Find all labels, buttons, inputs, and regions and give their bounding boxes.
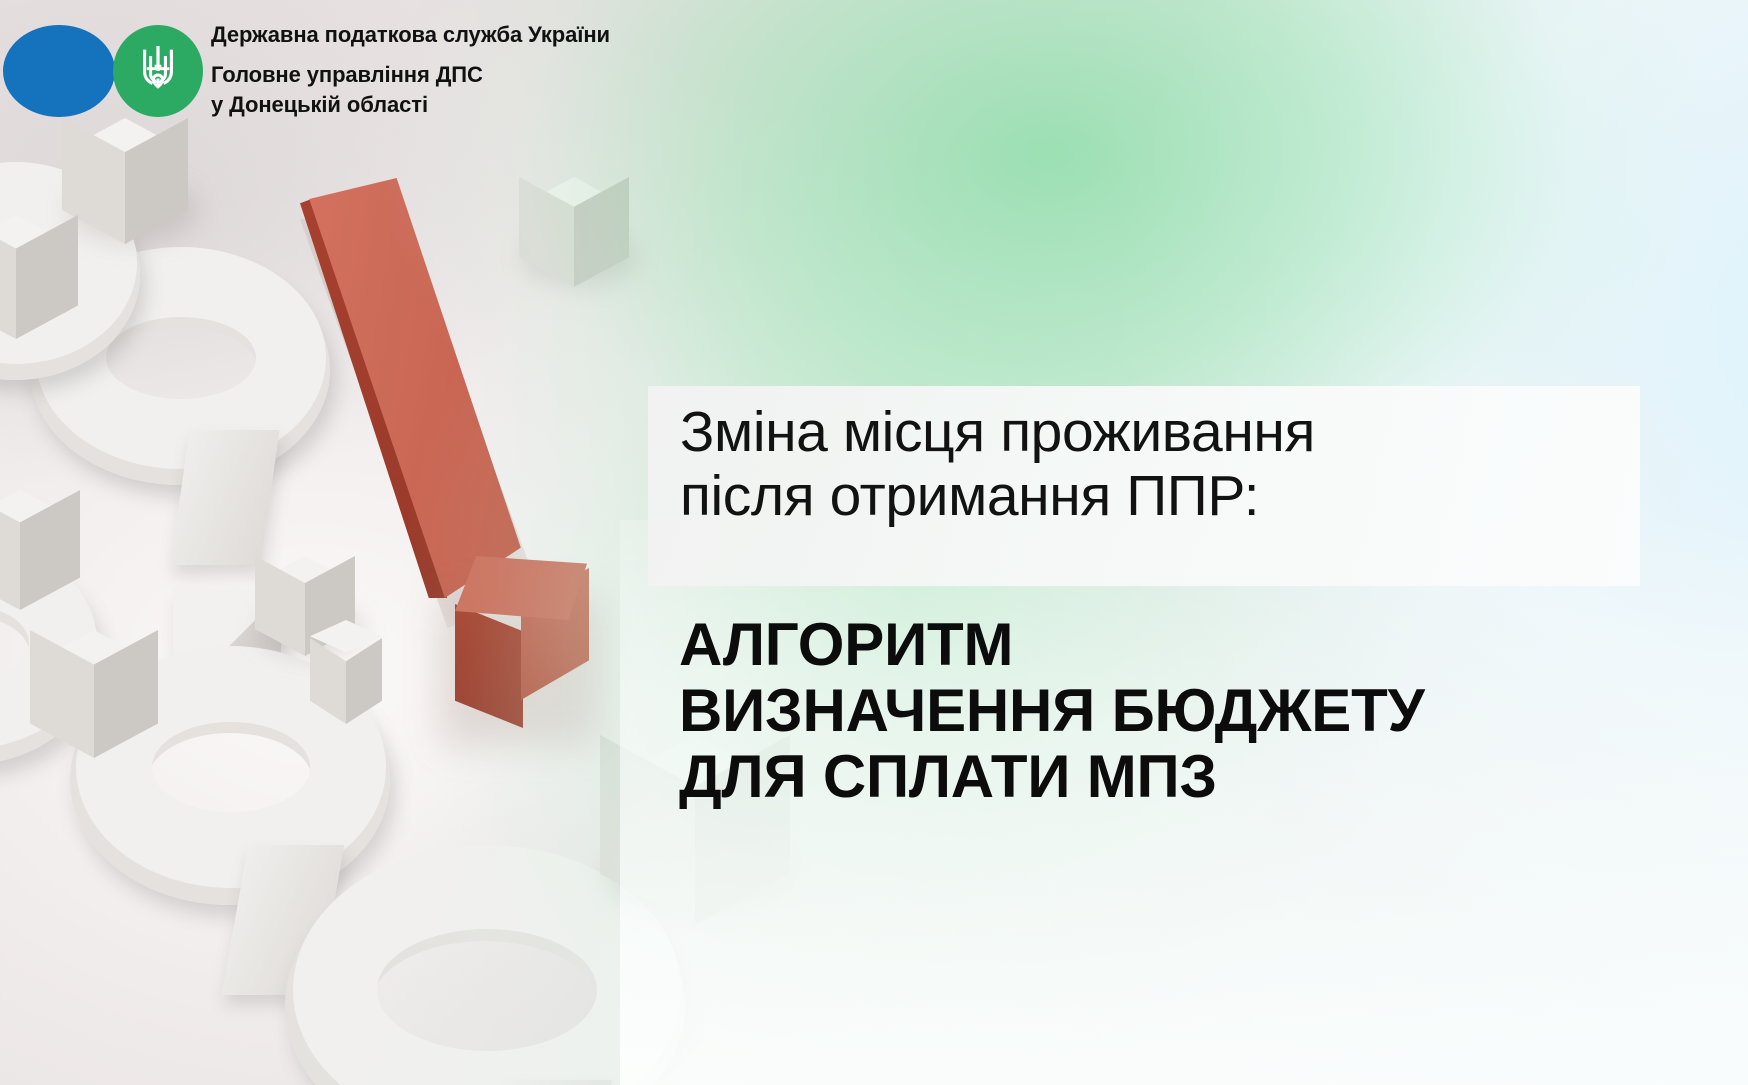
header-branding: Державна податкова служба України Головн… — [0, 0, 610, 120]
organisation-name-block: Державна податкова служба України Головн… — [211, 20, 610, 120]
red-exclamation-dot-3d — [447, 556, 589, 728]
grey-cube-3d — [62, 118, 188, 244]
grey-cube-3d — [0, 490, 80, 610]
ukraine-trident-icon — [139, 46, 177, 96]
org-line-1: Державна податкова служба України — [211, 20, 610, 50]
grey-cube-3d — [310, 620, 382, 720]
grey-cube-3d — [30, 630, 158, 758]
green-circle-icon — [113, 25, 203, 117]
title-line-1: Зміна місця проживання — [680, 400, 1680, 464]
dps-logo — [3, 24, 203, 117]
org-line-3: у Донецькій області — [211, 90, 610, 120]
grey-cube-3d — [519, 177, 629, 287]
page-subtitle: АЛГОРИТМ ВИЗНАЧЕННЯ БЮДЖЕТУ ДЛЯ СПЛАТИ М… — [679, 612, 1729, 810]
blue-circle-icon — [3, 25, 115, 117]
red-exclamation-mark-3d — [300, 178, 530, 598]
org-line-2: Головне управління ДПС — [211, 60, 610, 90]
title-line-2: після отримання ППР: — [680, 464, 1680, 528]
poster-canvas: Державна податкова служба України Головн… — [0, 0, 1748, 1085]
page-title: Зміна місця проживання після отримання П… — [680, 378, 1680, 528]
exclamation-dot-top-face — [455, 556, 587, 620]
subtitle-line-3: ДЛЯ СПЛАТИ МПЗ — [679, 744, 1729, 810]
subtitle-line-1: АЛГОРИТМ — [679, 612, 1729, 678]
grey-cube-3d — [0, 215, 78, 339]
subtitle-line-2: ВИЗНАЧЕННЯ БЮДЖЕТУ — [679, 678, 1729, 744]
